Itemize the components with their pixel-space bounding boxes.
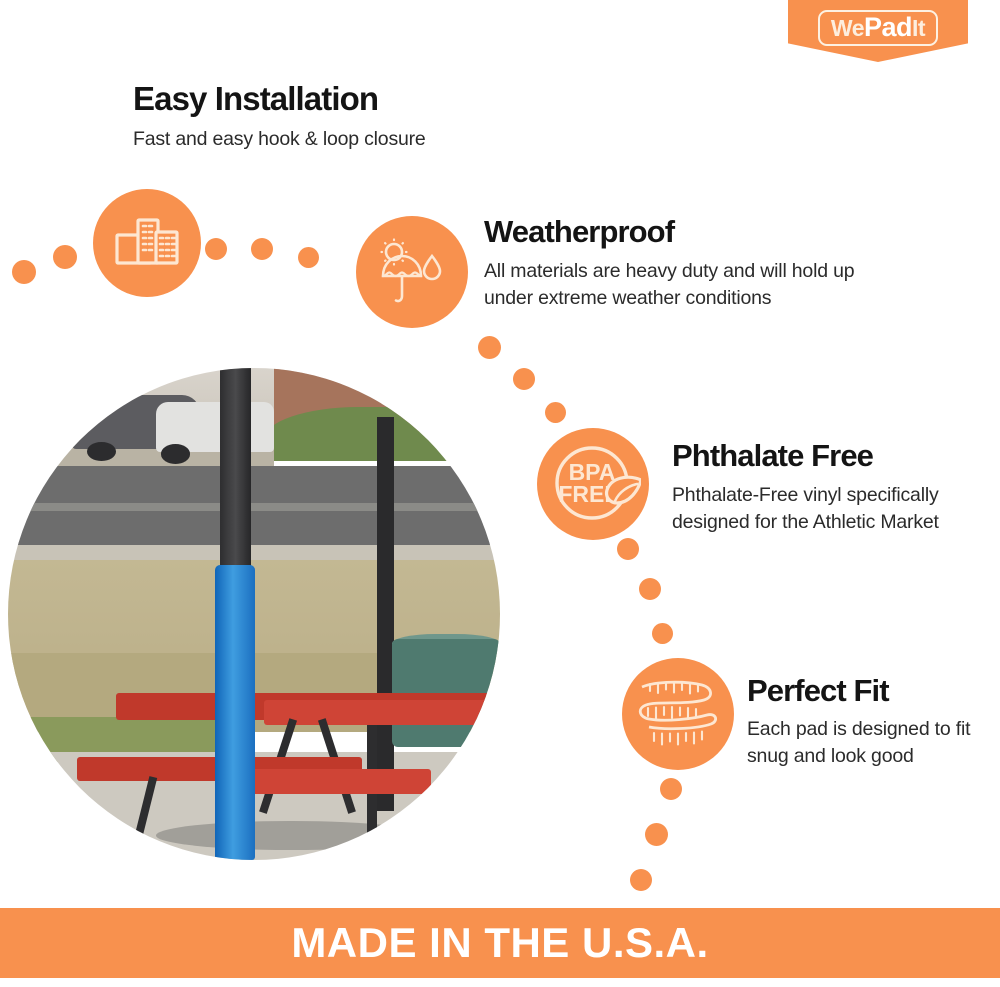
brand-logo-badge[interactable]: We Pad It <box>788 0 968 62</box>
made-in-usa-text: MADE IN THE U.S.A. <box>291 919 708 967</box>
feature-title-perfect-fit: Perfect Fit <box>747 673 889 709</box>
trail-dot <box>639 578 661 600</box>
infographic-canvas: We Pad It Easy Installation Fast and eas… <box>0 0 1000 987</box>
made-in-usa-banner: MADE IN THE U.S.A. <box>0 908 1000 978</box>
sun-umbrella-raindrop-icon <box>356 216 468 328</box>
feature-description-weatherproof: All materials are heavy duty and will ho… <box>484 258 904 311</box>
trail-dot <box>617 538 639 560</box>
trail-dot <box>645 823 668 846</box>
brand-logo-pad: Pad <box>864 14 912 41</box>
trail-dot <box>630 869 652 891</box>
feature-description-easy-installation: Fast and easy hook & loop closure <box>133 126 553 153</box>
feature-title-weatherproof: Weatherproof <box>484 214 674 250</box>
trail-dot <box>251 238 273 260</box>
trail-dot <box>298 247 319 268</box>
footer-white-strip <box>0 978 1000 987</box>
trail-dot <box>12 260 36 284</box>
blue-pole-pad <box>215 565 255 860</box>
trail-dot <box>660 778 682 800</box>
product-photo <box>8 368 500 860</box>
trail-dot <box>478 336 501 359</box>
trail-dot <box>53 245 77 269</box>
trail-dot <box>513 368 535 390</box>
trail-dot <box>652 623 673 644</box>
building-installation-icon <box>93 189 201 297</box>
feature-title-phthalate-free: Phthalate Free <box>672 438 873 474</box>
trail-dot <box>545 402 566 423</box>
brand-logo-frame: We Pad It <box>818 10 938 46</box>
brand-logo-it: It <box>912 17 925 40</box>
measuring-tape-icon <box>622 658 734 770</box>
brand-logo-we: We <box>831 17 864 40</box>
bpa-free-leaf-icon: BPA FREE <box>537 428 649 540</box>
feature-description-perfect-fit: Each pad is designed to fit snug and loo… <box>747 716 977 769</box>
feature-title-easy-installation: Easy Installation <box>133 80 378 118</box>
trail-dot <box>205 238 227 260</box>
feature-description-phthalate-free: Phthalate-Free vinyl specifically design… <box>672 482 942 535</box>
